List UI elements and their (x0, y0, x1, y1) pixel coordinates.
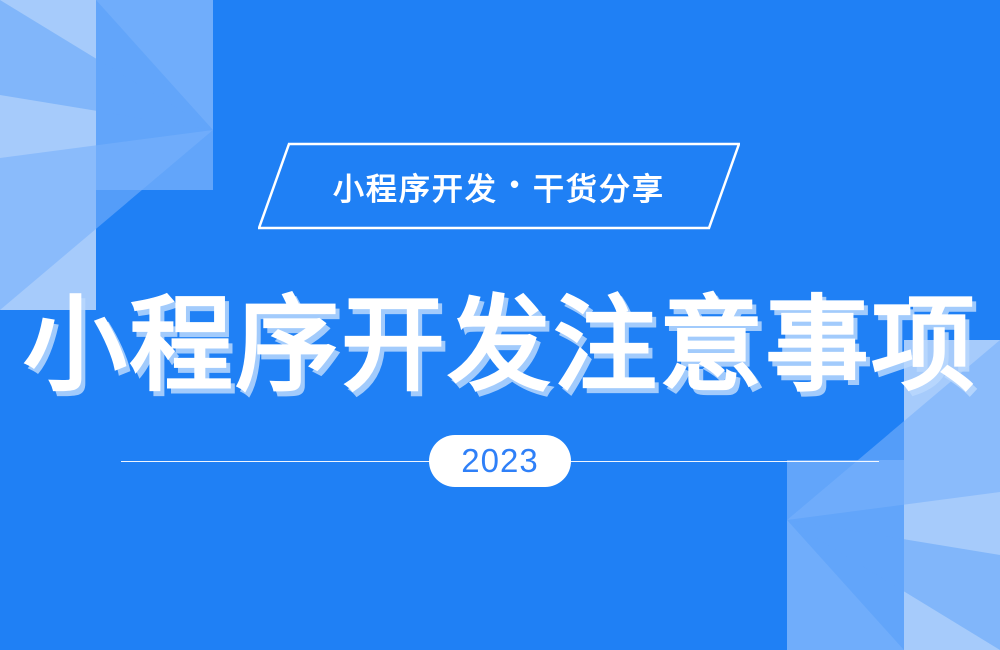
decor-shape-overlay-left (96, 0, 213, 130)
decor-shape-mid-band-right (787, 460, 904, 650)
page-title: 小程序开发注意事项 (0, 270, 1000, 400)
decor-shape-wedge-upper-left (0, 0, 213, 130)
topic-tag-left: 小程序开发 (333, 164, 498, 209)
divider-line-left (121, 461, 433, 462)
topic-tag-right: 干货分享 (533, 164, 665, 209)
poster-banner: 小程序开发 • 干货分享 小程序开发注意事项 2023 (0, 0, 1000, 650)
bullet-separator-icon: • (510, 171, 521, 197)
decor-shape-mid-band-left (96, 0, 213, 190)
divider-line-right (567, 461, 879, 462)
year-badge: 2023 (429, 435, 571, 487)
decor-shape-overlay-right (787, 520, 904, 650)
topic-tag-text: 小程序开发 • 干货分享 (258, 142, 740, 230)
decor-shape-wedge-upper-right (787, 520, 1000, 650)
year-row: 2023 (0, 435, 1000, 487)
